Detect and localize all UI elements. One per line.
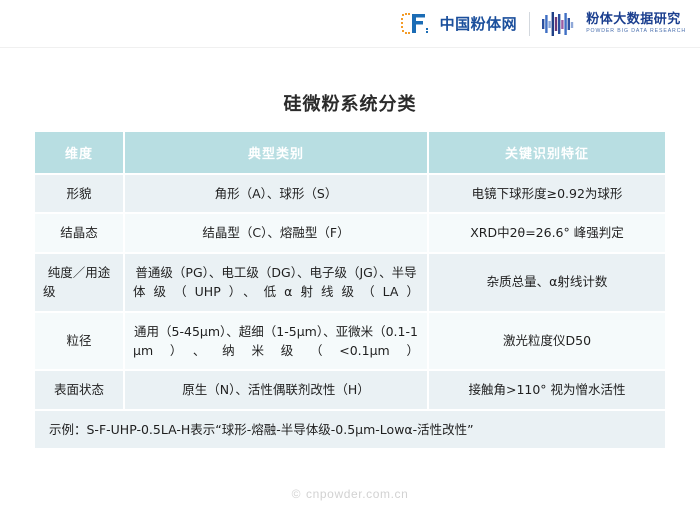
cell-types: 普通级（PG）、电工级（DG）、电子级（JG）、半导体级（UHP）、低α射线级（… [125,254,429,313]
page-title: 硅微粉系统分类 [0,90,700,116]
cnpowder-c-logo-icon [400,11,430,37]
powder-brand-cn: 粉体大数据研究 [586,13,686,27]
table-row: 形貌 角形（A）、球形（S） 电镜下球形度≥0.92为球形 [35,175,665,214]
cell-feature: 激光粒度仪D50 [429,313,665,372]
watermark-site: cnpowder.com.cn [306,487,408,501]
cnpowder-brand-text: 中国粉体网 [440,13,518,34]
cell-dimension: 纯度／用途级 [35,254,125,313]
brand-divider [529,12,530,36]
cell-types: 角形（A）、球形（S） [125,175,429,214]
column-header-types: 典型类别 [125,132,429,175]
table-row: 结晶态 结晶型（C）、熔融型（F） XRD中2θ=26.6° 峰强判定 [35,214,665,253]
table-row: 纯度／用途级 普通级（PG）、电工级（DG）、电子级（JG）、半导体级（UHP）… [35,254,665,313]
cell-dimension: 形貌 [35,175,125,214]
left-brand-group[interactable]: 中国粉体网 [400,11,518,37]
brand-bar: 中国粉体网 粉体大数据研究 POWDER BIG DATA RESEARCH [0,0,700,48]
table-footer-row: 示例：S-F-UHP-0.5LA-H表示“球形-熔融-半导体级-0.5μm-Lo… [35,411,665,448]
cell-dimension: 表面状态 [35,371,125,410]
table-row: 表面状态 原生（N）、活性偶联剂改性（H） 接触角>110° 视为憎水活性 [35,371,665,410]
classification-table-wrap: 维度 典型类别 关键识别特征 形貌 角形（A）、球形（S） 电镜下球形度≥0.9… [35,132,665,448]
watermark: ©cnpowder.com.cn [0,487,700,501]
column-header-feature: 关键识别特征 [429,132,665,175]
column-header-dimension: 维度 [35,132,125,175]
table-row: 粒径 通用（5-45μm）、超细（1-5μm）、亚微米（0.1-1μm）、纳米级… [35,313,665,372]
cell-dimension: 结晶态 [35,214,125,253]
right-brand-group[interactable]: 粉体大数据研究 POWDER BIG DATA RESEARCH [542,11,686,37]
cell-types: 原生（N）、活性偶联剂改性（H） [125,371,429,410]
cell-feature: XRD中2θ=26.6° 峰强判定 [429,214,665,253]
cell-feature: 电镜下球形度≥0.92为球形 [429,175,665,214]
cell-types: 结晶型（C）、熔融型（F） [125,214,429,253]
table-header-row: 维度 典型类别 关键识别特征 [35,132,665,175]
cell-feature: 杂质总量、α射线计数 [429,254,665,313]
classification-table: 维度 典型类别 关键识别特征 形貌 角形（A）、球形（S） 电镜下球形度≥0.9… [35,132,665,448]
cell-types: 通用（5-45μm）、超细（1-5μm）、亚微米（0.1-1μm）、纳米级（<0… [125,313,429,372]
cell-example-note: 示例：S-F-UHP-0.5LA-H表示“球形-熔融-半导体级-0.5μm-Lo… [35,411,665,448]
powder-brand-en: POWDER BIG DATA RESEARCH [586,29,686,34]
powder-brand-text-block: 粉体大数据研究 POWDER BIG DATA RESEARCH [586,13,686,34]
cell-feature: 接触角>110° 视为憎水活性 [429,371,665,410]
cell-dimension: 粒径 [35,313,125,372]
powder-bars-logo-icon [542,11,576,37]
copyright-icon: © [292,487,301,501]
